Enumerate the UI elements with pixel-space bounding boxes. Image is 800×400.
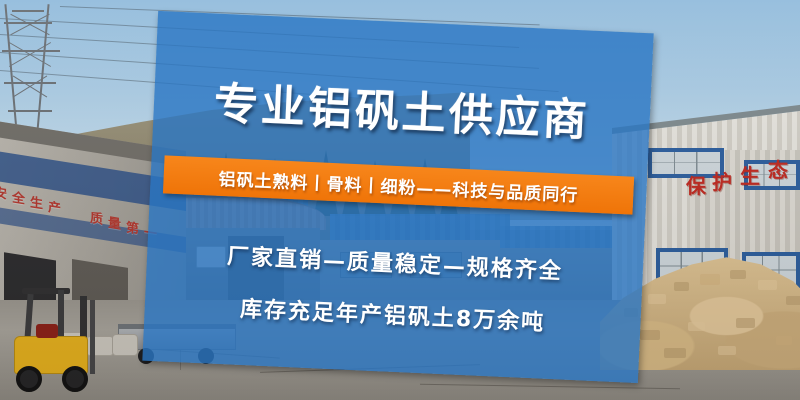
page-title: 专业铝矾土供应商 bbox=[213, 68, 592, 149]
blue-overlay-panel: 专业铝矾土供应商 铝矾土熟料丨骨料丨细粉——科技与品质同行 厂家直销—质量稳定—… bbox=[142, 11, 653, 383]
ribbon-label: 铝矾土熟料丨骨料丨细粉——科技与品质同行 bbox=[218, 164, 579, 205]
subline-one: 厂家直销—质量稳定—规格齐全 bbox=[226, 238, 563, 285]
subline-two: 库存充足年产铝矾土8万余吨 bbox=[239, 291, 545, 337]
banner-image: 安 全 生 产 质 量 第 一 保 护 生 态 bbox=[0, 0, 800, 400]
orange-ribbon: 铝矾土熟料丨骨料丨细粉——科技与品质同行 bbox=[163, 155, 634, 214]
